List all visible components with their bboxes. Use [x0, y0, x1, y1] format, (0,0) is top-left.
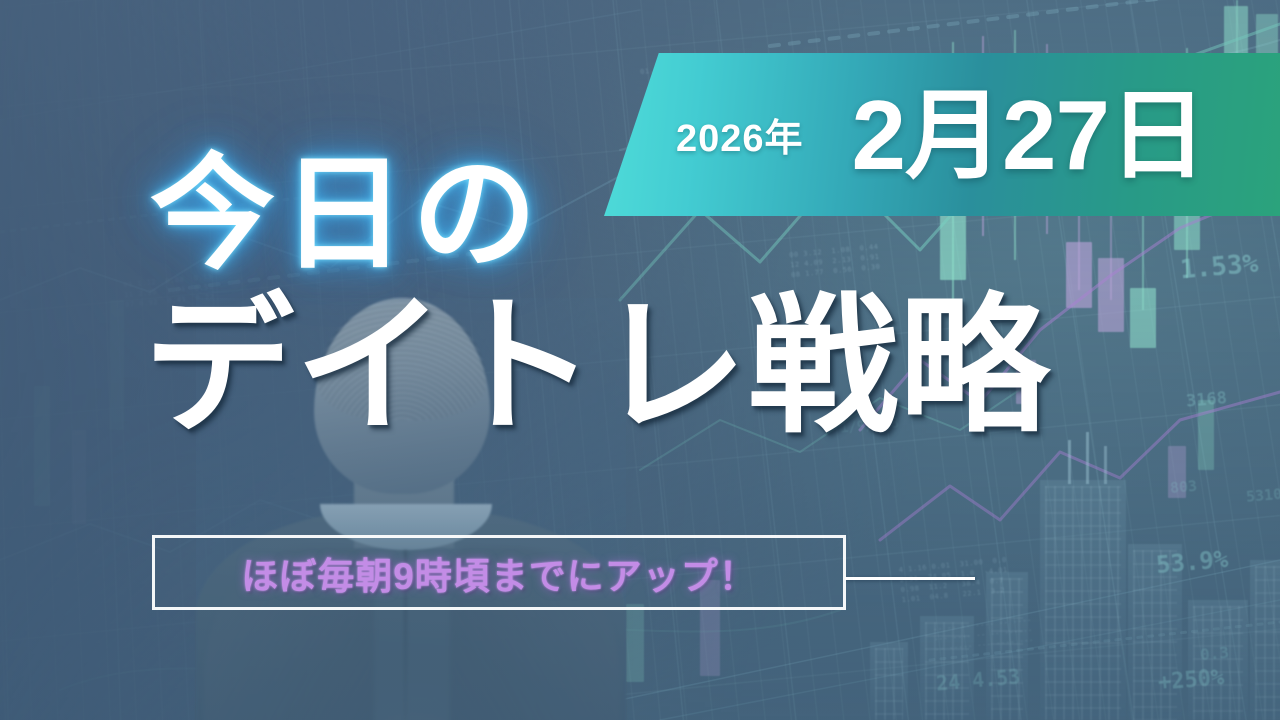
headline-line-1: 今日の	[150, 152, 1210, 277]
subtitle-accent-rule	[845, 577, 975, 580]
subtitle-box: ほぼ毎朝9時頃までにアップ！	[152, 535, 846, 610]
thumbnail-canvas: 1.53% 53.9% 3168 +250% 24 4.53 0.3 803 5…	[0, 0, 1280, 720]
headline-group: 今日の デイトレ戦略	[150, 152, 1210, 441]
subtitle-text: ほぼ毎朝9時頃までにアップ！	[241, 546, 757, 600]
headline-line-2: デイトレ戦略	[144, 291, 1210, 441]
